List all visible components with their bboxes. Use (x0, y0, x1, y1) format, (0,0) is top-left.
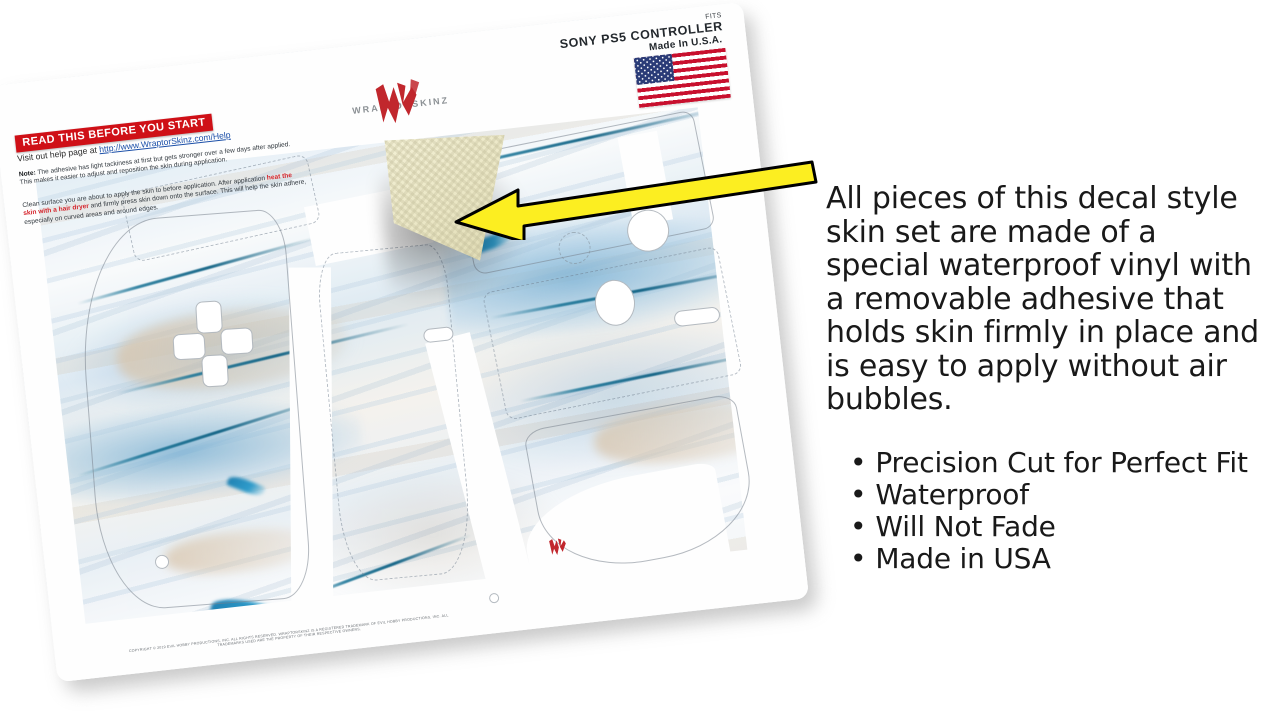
dpad-cutout-down (201, 354, 229, 387)
bullet-item: Made in USA (850, 543, 1266, 575)
decal-skin-sheet: READ THIS BEFORE YOU START Visit out hel… (0, 2, 809, 683)
wraptor-w-mark-icon (367, 77, 432, 127)
usa-flag-icon (634, 48, 731, 108)
dpad-cutout-right (220, 327, 253, 355)
flag-canton (634, 54, 675, 85)
bullet-item: Will Not Fade (850, 511, 1266, 543)
marketing-paragraph: All pieces of this decal style skin set … (826, 182, 1266, 417)
sheet-surface: READ THIS BEFORE YOU START Visit out hel… (0, 2, 809, 683)
skin-piece-left-grip (74, 208, 313, 613)
bullet-item: Waterproof (850, 479, 1266, 511)
marketing-copy-block: All pieces of this decal style skin set … (826, 152, 1266, 575)
note-label: Note: (19, 170, 37, 179)
dpad-cutout-up (195, 300, 223, 333)
bullet-item: Precision Cut for Perfect Fit (850, 447, 1266, 479)
wraptor-watermark-icon (545, 536, 573, 557)
feature-bullet-list: Precision Cut for Perfect Fit Waterproof… (850, 447, 1266, 575)
product-image-canvas: READ THIS BEFORE YOU START Visit out hel… (0, 0, 1280, 715)
flag-stars (634, 54, 675, 85)
peeled-corner (384, 127, 518, 270)
dpad-cutout-left (172, 333, 205, 361)
